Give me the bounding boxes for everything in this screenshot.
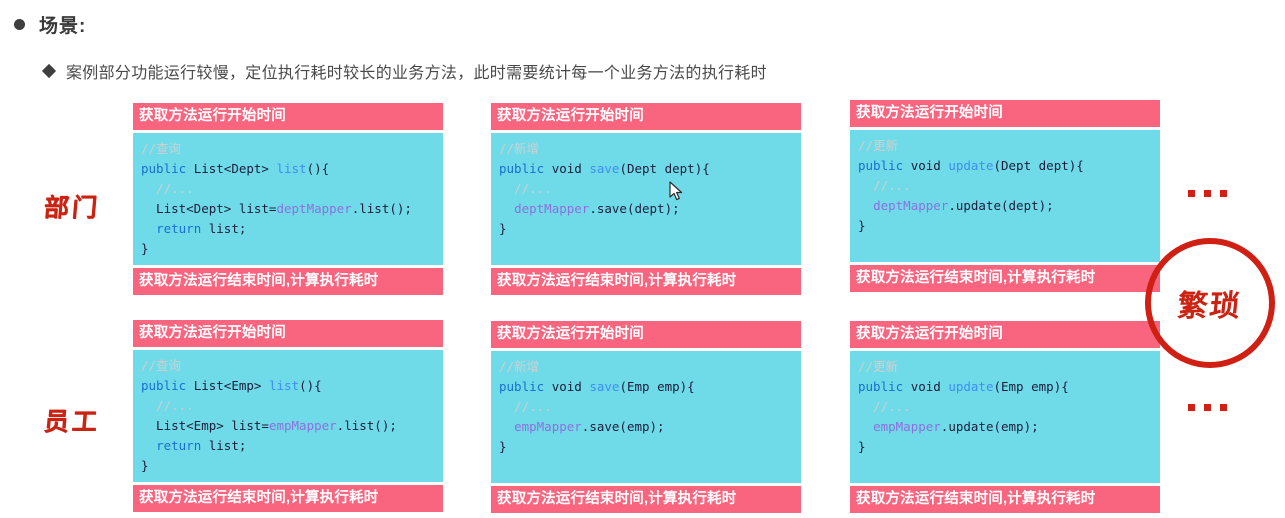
code-comment-line: //查询 (141, 139, 443, 159)
code-line: } (858, 437, 1160, 457)
code-filler-line (499, 239, 801, 259)
code-card-dept-list: 获取方法运行开始时间//查询public List<Dept> list(){ … (133, 103, 443, 295)
code-line: //... (141, 396, 443, 416)
code-line: public List<Dept> list(){ (141, 159, 443, 179)
horizontal-ellipsis-icon-row1 (1188, 190, 1227, 197)
code-line: List<Emp> list=empMapper.list(); (141, 416, 443, 436)
code-line: return list; (141, 219, 443, 239)
code-comment-line: //更新 (858, 136, 1160, 156)
scene-heading-label: 场景: (39, 11, 86, 38)
code-line: public void save(Dept dept){ (499, 159, 801, 179)
code-line: public List<Emp> list(){ (141, 376, 443, 396)
card-code-body: //更新public void update(Dept dept){ //...… (850, 130, 1160, 262)
annotation-circle-label: 繁琐 (1176, 281, 1245, 325)
code-line: empMapper.update(emp); (858, 417, 1160, 437)
card-end-bar: 获取方法运行结束时间,计算执行耗时 (850, 265, 1160, 292)
card-start-bar: 获取方法运行开始时间 (491, 103, 801, 130)
code-line: //... (141, 179, 443, 199)
code-line: } (141, 456, 443, 476)
code-line: return list; (141, 436, 443, 456)
code-line: } (858, 216, 1160, 236)
code-card-dept-save: 获取方法运行开始时间//新增public void save(Dept dept… (491, 103, 801, 295)
card-start-bar: 获取方法运行开始时间 (850, 100, 1160, 127)
code-line: } (499, 437, 801, 457)
horizontal-ellipsis-icon-row2 (1188, 404, 1227, 411)
code-card-emp-update: 获取方法运行开始时间//更新public void update(Emp emp… (850, 321, 1160, 513)
card-code-body: //新增public void save(Dept dept){ //... d… (491, 133, 801, 265)
code-line: public void update(Dept dept){ (858, 156, 1160, 176)
code-card-dept-update: 获取方法运行开始时间//更新public void update(Dept de… (850, 100, 1160, 292)
code-line: deptMapper.update(dept); (858, 196, 1160, 216)
card-end-bar: 获取方法运行结束时间,计算执行耗时 (133, 268, 443, 295)
scene-description: 案例部分功能运行较慢，定位执行耗时较长的业务方法，此时需要统计每一个业务方法的执… (44, 59, 767, 83)
code-filler-line (499, 457, 801, 477)
code-line: empMapper.save(emp); (499, 417, 801, 437)
code-comment-line: //新增 (499, 357, 801, 377)
code-comment-line: //新增 (499, 139, 801, 159)
card-code-body: //更新public void update(Emp emp){ //... e… (850, 351, 1160, 483)
card-code-body: //查询public List<Dept> list(){ //... List… (133, 133, 443, 265)
card-code-body: //新增public void save(Emp emp){ //... emp… (491, 351, 801, 483)
card-start-bar: 获取方法运行开始时间 (850, 321, 1160, 348)
filled-circle-bullet-icon (14, 19, 25, 30)
code-card-emp-list: 获取方法运行开始时间//查询public List<Emp> list(){ /… (133, 320, 443, 512)
code-card-emp-save: 获取方法运行开始时间//新增public void save(Emp emp){… (491, 321, 801, 513)
code-line: public void save(Emp emp){ (499, 377, 801, 397)
row-label-dept: 部门 (42, 188, 101, 224)
card-start-bar: 获取方法运行开始时间 (133, 320, 443, 347)
card-end-bar: 获取方法运行结束时间,计算执行耗时 (850, 486, 1160, 513)
code-comment-line: //更新 (858, 357, 1160, 377)
scene-description-label: 案例部分功能运行较慢，定位执行耗时较长的业务方法，此时需要统计每一个业务方法的执… (66, 59, 767, 83)
code-line: //... (858, 176, 1160, 196)
code-filler-line (858, 236, 1160, 256)
scene-heading: 场景: (14, 11, 86, 38)
code-line: } (141, 239, 443, 259)
annotation-circle: 繁琐 (1145, 238, 1275, 368)
card-start-bar: 获取方法运行开始时间 (491, 321, 801, 348)
row-label-emp: 员工 (42, 402, 101, 438)
card-code-body: //查询public List<Emp> list(){ //... List<… (133, 350, 443, 482)
code-line: //... (499, 179, 801, 199)
code-comment-line: //查询 (141, 356, 443, 376)
filled-diamond-bullet-icon (42, 64, 56, 78)
code-line: //... (858, 397, 1160, 417)
card-end-bar: 获取方法运行结束时间,计算执行耗时 (491, 268, 801, 295)
code-line: public void update(Emp emp){ (858, 377, 1160, 397)
code-line: List<Dept> list=deptMapper.list(); (141, 199, 443, 219)
card-end-bar: 获取方法运行结束时间,计算执行耗时 (133, 485, 443, 512)
card-end-bar: 获取方法运行结束时间,计算执行耗时 (491, 486, 801, 513)
code-line: //... (499, 397, 801, 417)
code-filler-line (858, 457, 1160, 477)
code-line: deptMapper.save(dept); (499, 199, 801, 219)
code-line: } (499, 219, 801, 239)
card-start-bar: 获取方法运行开始时间 (133, 103, 443, 130)
